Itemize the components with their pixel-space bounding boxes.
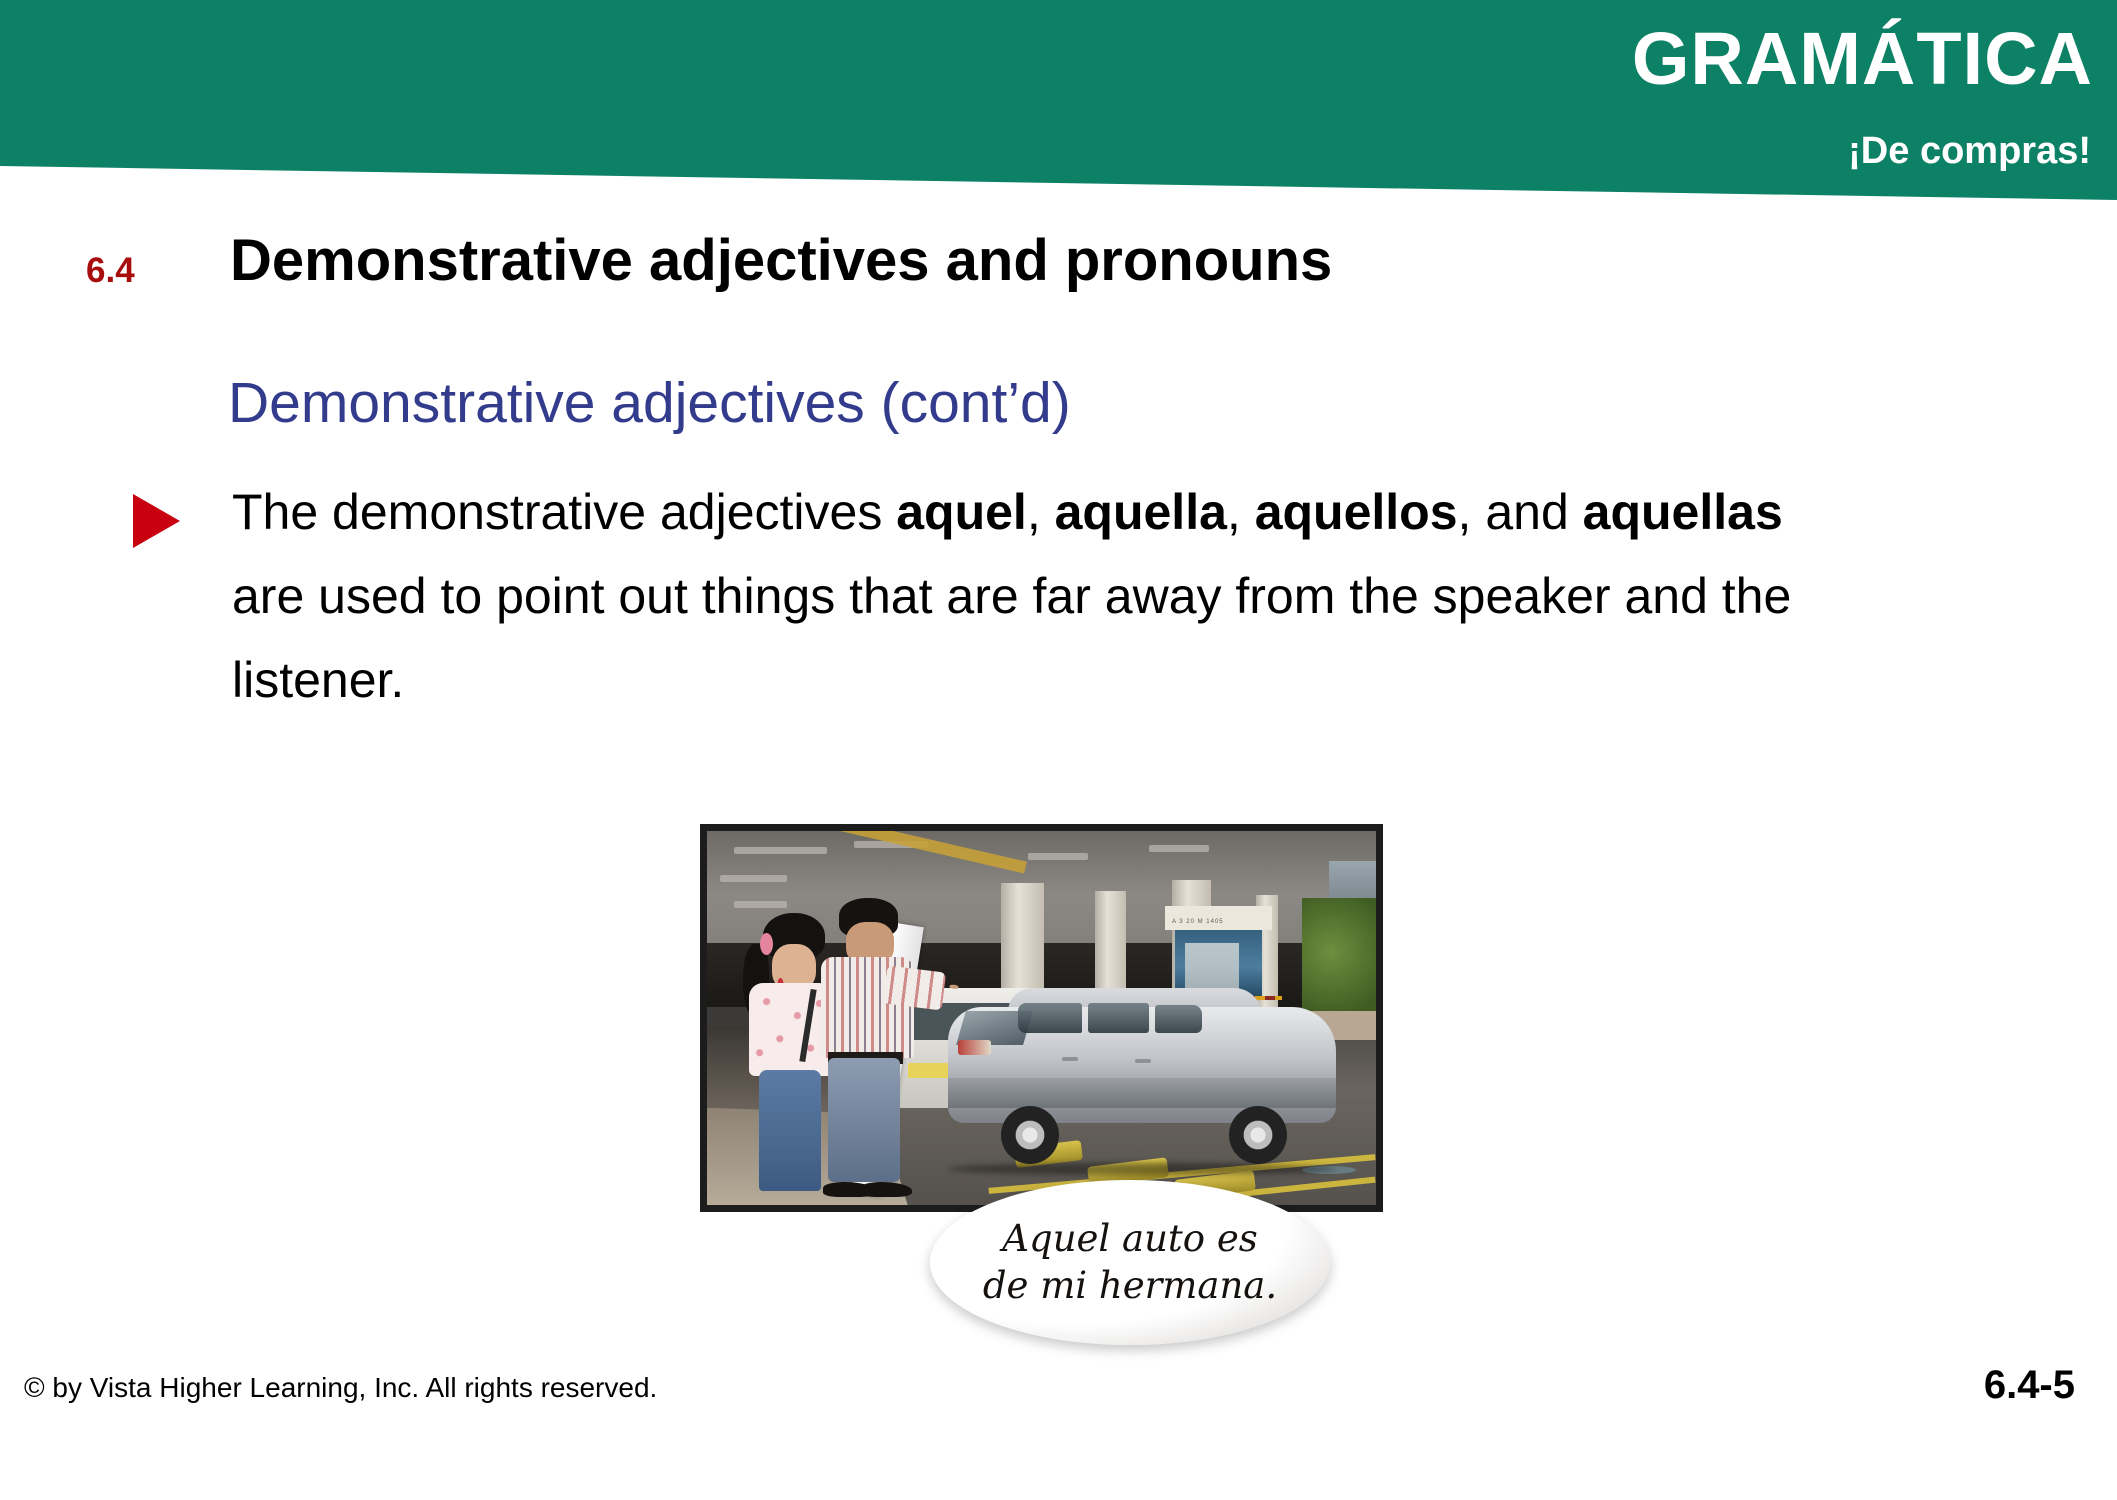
car-door-handle	[1062, 1057, 1078, 1061]
jeans	[828, 1058, 901, 1182]
car-taillight	[958, 1040, 991, 1055]
car-wheel	[1229, 1106, 1287, 1164]
bold-term: aquellas	[1583, 484, 1783, 540]
ceiling-light	[734, 847, 828, 854]
jeans	[759, 1070, 821, 1191]
ceiling-light	[720, 875, 787, 882]
man-shopper	[814, 898, 928, 1193]
banner-subtitle: ¡De compras!	[1848, 132, 2091, 170]
speech-bubble-line-2: de mi hermana.	[983, 1263, 1277, 1310]
back-wall-sign-text: A 3 20 M 1405	[1172, 919, 1224, 925]
bold-term: aquella	[1055, 484, 1227, 540]
photo-content: A 3 20 M 1405	[707, 831, 1376, 1205]
speech-bubble: Aquel auto es de mi hermana.	[930, 1180, 1330, 1345]
car-window	[1088, 1003, 1148, 1033]
paragraph-text: , and	[1458, 484, 1583, 540]
paragraph-text: are used to point out things that are fa…	[232, 568, 1791, 708]
slide-number: 6.4-5	[1984, 1365, 2075, 1405]
car-wheel	[1001, 1106, 1059, 1164]
ceiling-light	[1149, 845, 1209, 852]
header-banner: GRAMÁTICA ¡De compras!	[0, 0, 2117, 250]
slide: GRAMÁTICA ¡De compras! 6.4 Demonstrative…	[0, 0, 2117, 1500]
page-title: Demonstrative adjectives and pronouns	[230, 232, 1332, 290]
paragraph-text: ,	[1227, 484, 1255, 540]
bold-term: aquellos	[1255, 484, 1458, 540]
ceiling-beam	[829, 831, 1027, 873]
bullet-paragraph: The demonstrative adjectives aquel, aque…	[232, 470, 1842, 722]
banner-title: GRAMÁTICA	[1632, 22, 2093, 96]
content-subtitle: Demonstrative adjectives (cont’d)	[228, 375, 1071, 432]
photo-parking-garage: A 3 20 M 1405	[700, 824, 1383, 1212]
paragraph-text: The demonstrative adjectives	[232, 484, 896, 540]
car-shadow	[948, 1163, 1336, 1175]
triangle-right-icon	[133, 494, 180, 548]
ceiling-light	[1028, 853, 1088, 860]
speech-bubble-line-1: Aquel auto es	[1002, 1216, 1257, 1263]
pointing-arm	[882, 966, 945, 1011]
bold-term: aquel	[896, 484, 1027, 540]
ceiling-light	[734, 901, 788, 908]
car-window	[1155, 1005, 1202, 1033]
shoe	[860, 1182, 912, 1197]
car-lower-body	[948, 1078, 1336, 1108]
section-number: 6.4	[86, 253, 135, 288]
car-window	[1018, 1003, 1082, 1033]
banner-shape	[0, 0, 2117, 250]
paragraph-text: ,	[1027, 484, 1055, 540]
car-door-handle	[1135, 1059, 1151, 1063]
copyright-notice: © by Vista Higher Learning, Inc. All rig…	[24, 1374, 657, 1402]
